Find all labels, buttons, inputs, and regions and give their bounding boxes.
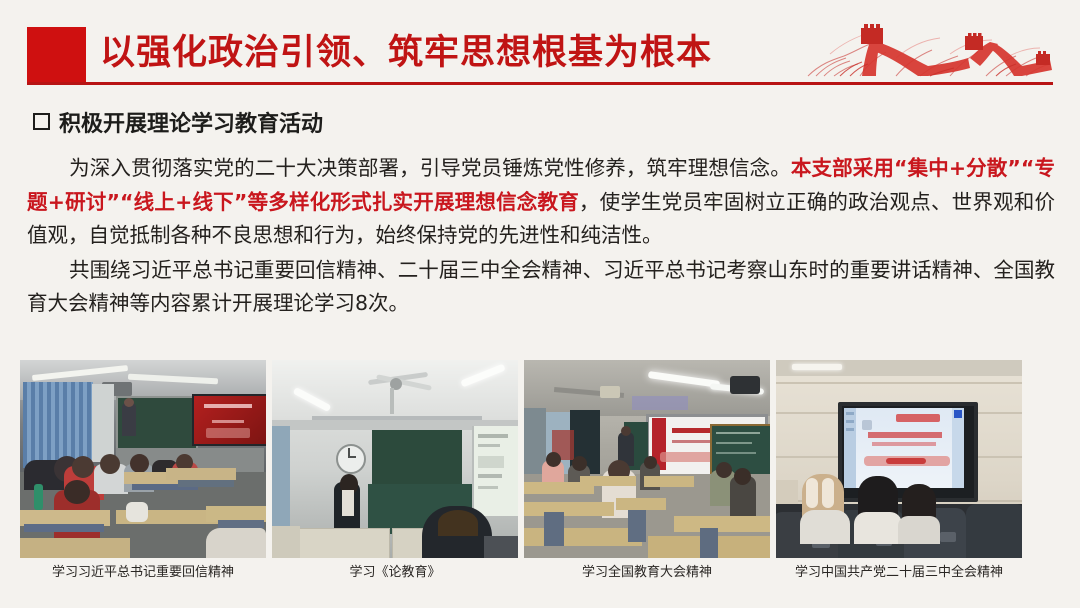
photo-captions: 学习习近平总书记重要回信精神 学习《论教育》 学习全国教育大会精神 学习中国共产… [20, 564, 1060, 582]
section-subheading: 积极开展理论学习教育活动 [33, 110, 323, 140]
photo-3-scene [524, 360, 770, 558]
photo-4 [776, 360, 1022, 558]
slide-header: 以强化政治引领、筑牢思想根基为根本 [0, 0, 1080, 96]
paragraph-1: 为深入贯彻落实党的二十大决策部署，引导党员锤炼党性修养，筑牢理想信念。本支部采用… [27, 152, 1055, 253]
photo-2-scene [272, 360, 518, 558]
subheading-text: 积极开展理论学习教育活动 [59, 112, 323, 137]
photo-caption-1: 学习习近平总书记重要回信精神 [20, 564, 266, 582]
great-wall-illustration-icon [800, 14, 1060, 84]
photo-4-scene [776, 360, 1022, 558]
photo-1-scene [20, 360, 266, 558]
paragraph-1-segment-1: 为深入贯彻落实党的二十大决策部署，引导党员锤炼党性修养，筑牢理想信念。 [69, 156, 791, 180]
photo-2 [272, 360, 518, 558]
photo-caption-2: 学习《论教育》 [272, 564, 518, 582]
paragraph-2: 共围绕习近平总书记重要回信精神、二十届三中全会精神、习近平总书记考察山东时的重要… [27, 254, 1055, 321]
photo-caption-4: 学习中国共产党二十届三中全会精神 [776, 564, 1022, 582]
page-title: 以强化政治引领、筑牢思想根基为根本 [100, 26, 712, 80]
photo-1 [20, 360, 266, 558]
header-red-block [27, 27, 86, 83]
body-text-block: 为深入贯彻落实党的二十大决策部署，引导党员锤炼党性修养，筑牢理想信念。本支部采用… [27, 152, 1055, 322]
square-bullet-icon [33, 113, 50, 130]
photo-strip [20, 360, 1060, 558]
paragraph-2-segment-1: 共围绕习近平总书记重要回信精神、二十届三中全会精神、习近平总书记考察山东时的重要… [27, 258, 1055, 316]
photo-3 [524, 360, 770, 558]
photo-caption-3: 学习全国教育大会精神 [524, 564, 770, 582]
